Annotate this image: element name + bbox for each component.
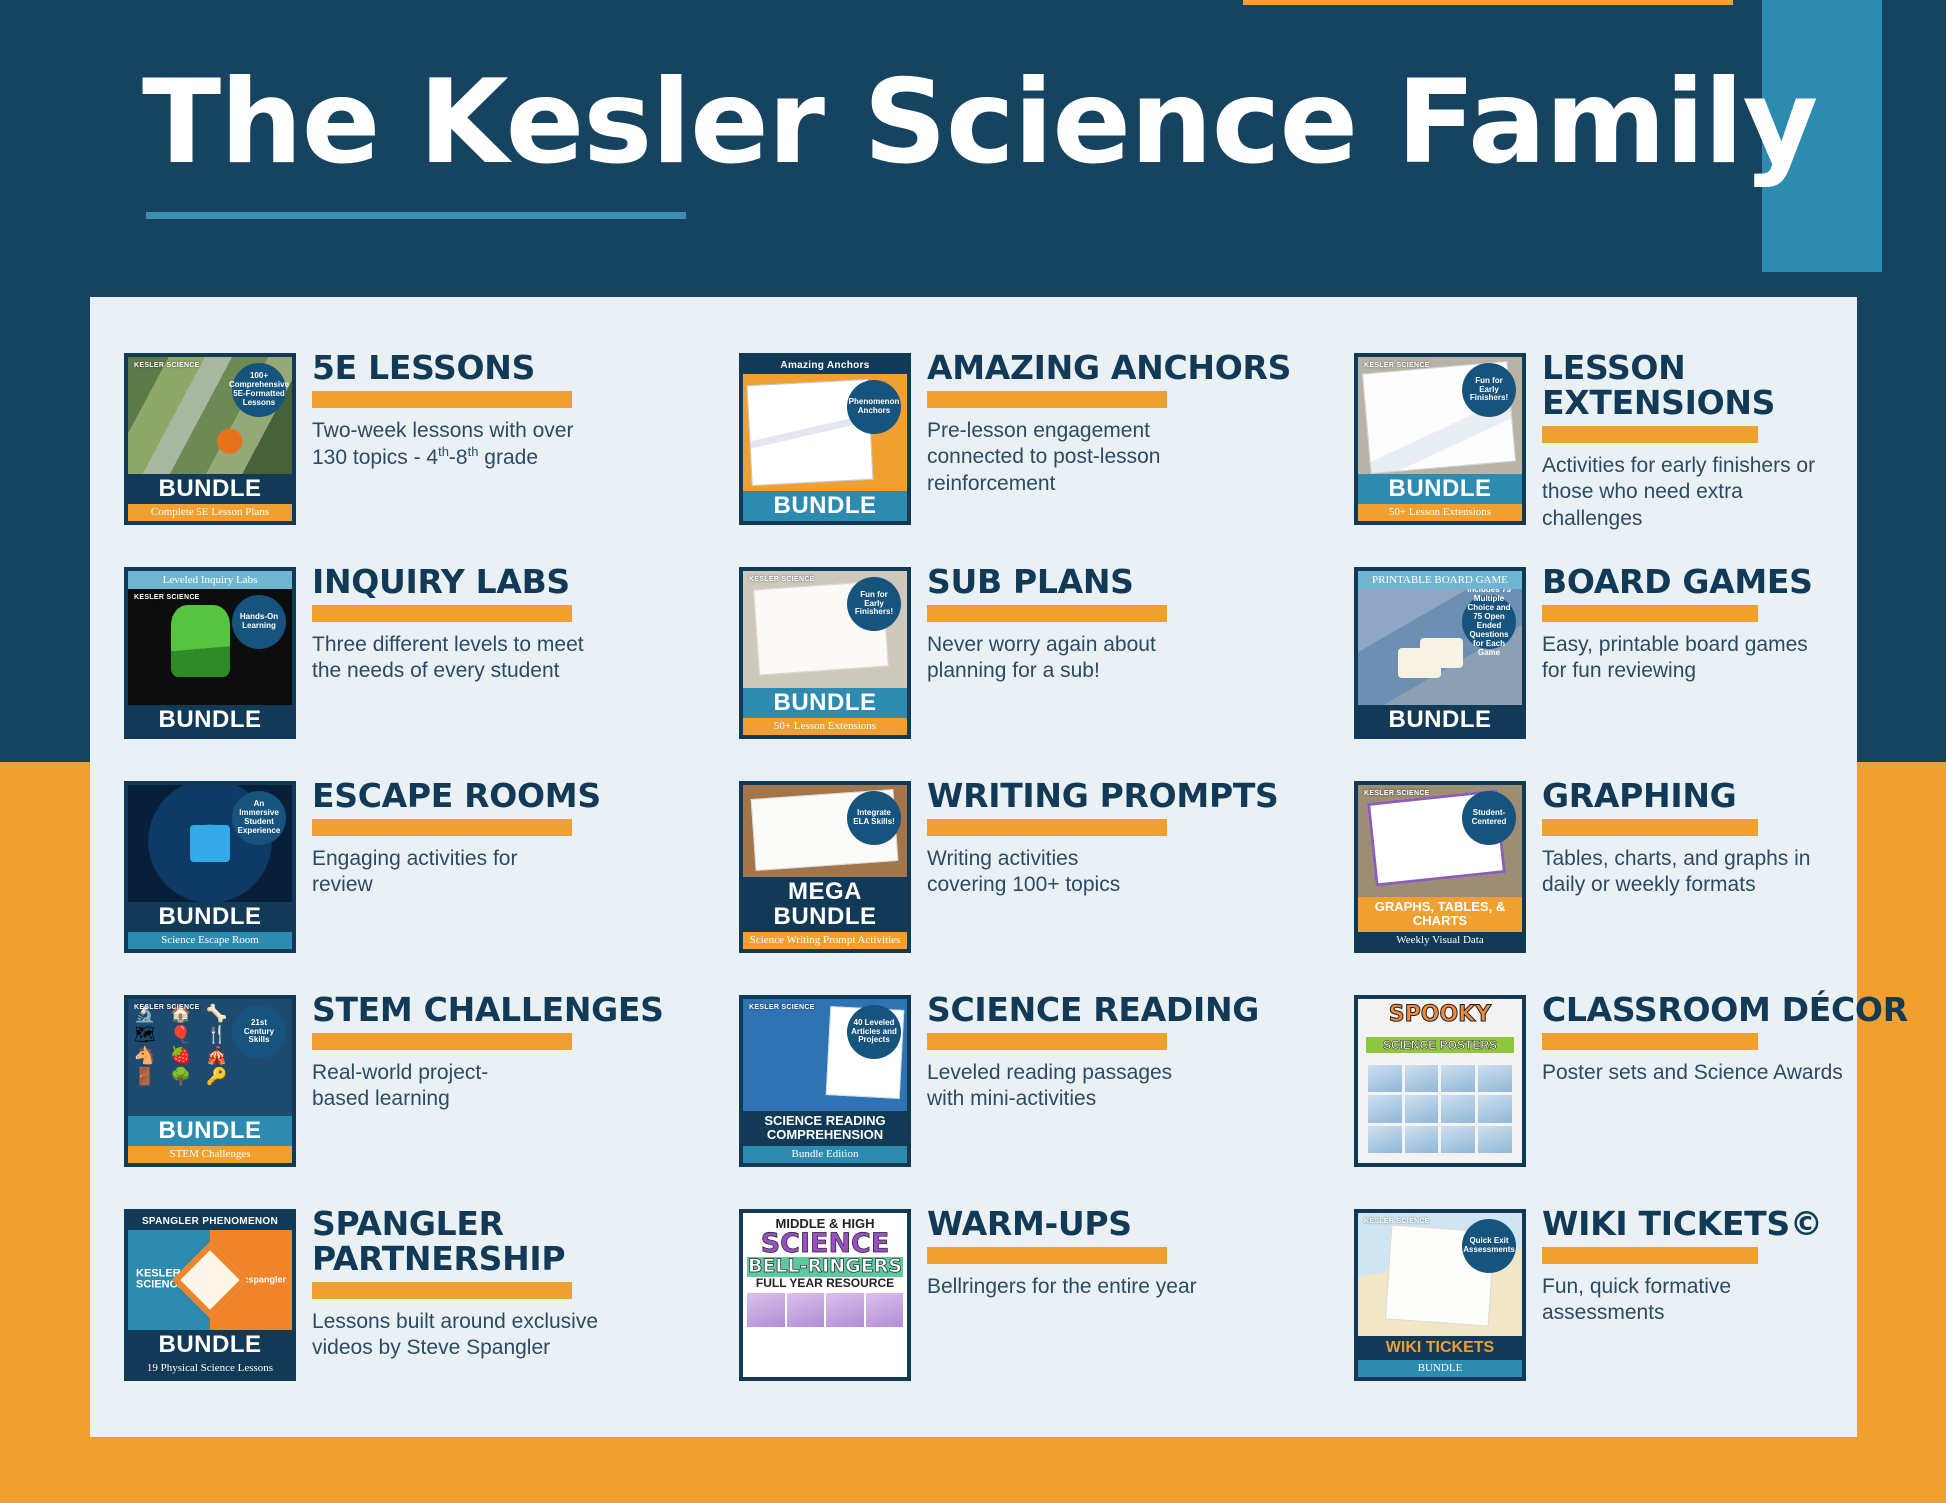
thumbnail-artwork: KESLER SCIENCE21st Century Skills🔬🏠🦴🗺🎈🍴🐴…: [128, 999, 292, 1116]
product-card[interactable]: MIDDLE & HIGHSCIENCEBELL-RINGERSFULL YEA…: [739, 1201, 1354, 1415]
thumbnail-badge: Fun for Early Finishers!: [847, 577, 901, 631]
product-thumbnail[interactable]: KESLER SCIENCE21st Century Skills🔬🏠🦴🗺🎈🍴🐴…: [124, 987, 296, 1167]
product-info: WRITING PROMPTSWriting activitiescoverin…: [911, 773, 1354, 899]
product-title: WIKI TICKETS©: [1542, 1207, 1924, 1242]
thumbnail-frame: SPANGLER PHENOMENONKESLER SCIENCEstevesp…: [124, 1209, 296, 1381]
product-thumbnail[interactable]: KESLER SCIENCE40 Leveled Articles and Pr…: [739, 987, 911, 1167]
thumbnail-frame: Leveled Inquiry LabsKESLER SCIENCEHands-…: [124, 567, 296, 739]
thumbnail-frame: MIDDLE & HIGHSCIENCEBELL-RINGERSFULL YEA…: [739, 1209, 911, 1381]
thumbnail-footer-label: BUNDLE: [128, 902, 292, 932]
product-title-rule: [1542, 605, 1758, 622]
product-card[interactable]: KESLER SCIENCEFun for Early Finishers!BU…: [1354, 345, 1924, 559]
products-grid: KESLER SCIENCE100+ Comprehensive 5E-Form…: [124, 345, 1823, 1415]
thumbnail-badge: 100+ Comprehensive 5E-Formatted Lessons: [232, 363, 286, 417]
thumbnail-badge: Quick Exit Assessments: [1462, 1219, 1516, 1273]
product-title-rule: [312, 605, 572, 622]
warmups-thumb-tiles: [747, 1293, 903, 1327]
product-card[interactable]: Integrate ELA Skills!MEGA BUNDLEScience …: [739, 773, 1354, 987]
kesler-science-logo: KESLER SCIENCE: [749, 1004, 815, 1011]
product-info: BOARD GAMESEasy, printable board gamesfo…: [1526, 559, 1924, 685]
product-card[interactable]: KESLER SCIENCEFun for Early Finishers!BU…: [739, 559, 1354, 773]
product-card[interactable]: Leveled Inquiry LabsKESLER SCIENCEHands-…: [124, 559, 739, 773]
stem-icon: 🐴: [134, 1047, 166, 1064]
product-thumbnail[interactable]: KESLER SCIENCEStudent-CenteredGRAPHS, TA…: [1354, 773, 1526, 953]
product-info: GRAPHINGTables, charts, and graphs indai…: [1526, 773, 1924, 899]
page-title: The Kesler Science Family: [0, 0, 1946, 184]
thumbnail-footer-label: BUNDLE: [128, 705, 292, 735]
poster-title: SPOOKY: [1366, 1004, 1514, 1026]
product-info: ESCAPE ROOMSEngaging activities forrevie…: [296, 773, 739, 899]
page-header: The Kesler Science Family: [0, 0, 1946, 219]
product-title: STEM CHALLENGES: [312, 993, 739, 1028]
product-title: SUB PLANS: [927, 565, 1354, 600]
product-card[interactable]: KESLER SCIENCE40 Leveled Articles and Pr…: [739, 987, 1354, 1201]
product-description: Fun, quick formativeassessments: [1542, 1274, 1872, 1327]
thumbnail-badge: 21st Century Skills: [232, 1005, 286, 1059]
thumbnail-artwork: KESLER SCIENCEstevespangler: [128, 1230, 292, 1330]
thumbnail-footer-label: BUNDLE: [128, 1330, 292, 1360]
thumbnail-artwork: Integrate ELA Skills!: [743, 785, 907, 877]
product-card[interactable]: KESLER SCIENCEStudent-CenteredGRAPHS, TA…: [1354, 773, 1924, 987]
product-thumbnail[interactable]: SPANGLER PHENOMENONKESLER SCIENCEstevesp…: [124, 1201, 296, 1381]
thumbnail-top-banner: PRINTABLE BOARD GAME: [1358, 571, 1522, 589]
thumbnail-frame: An Immersive Student ExperienceBUNDLESci…: [124, 781, 296, 953]
thumbnail-subfooter-label: Bundle Edition: [743, 1146, 907, 1163]
thumbnail-frame: KESLER SCIENCE40 Leveled Articles and Pr…: [739, 995, 911, 1167]
thumbnail-artwork: KESLER SCIENCEFun for Early Finishers!: [743, 571, 907, 688]
product-description: Tables, charts, and graphs indaily or we…: [1542, 846, 1872, 899]
thumbnail-footer-label: BUNDLE: [743, 491, 907, 521]
stem-icon: 🗺: [134, 1026, 166, 1043]
product-info: WIKI TICKETS©Fun, quick formativeassessm…: [1526, 1201, 1924, 1327]
product-title: WARM-UPS: [927, 1207, 1354, 1242]
thumbnail-artwork: KESLER SCIENCE100+ Comprehensive 5E-Form…: [128, 357, 292, 474]
stem-icon: 🎈: [170, 1026, 202, 1043]
thumbnail-badge: 40 Leveled Articles and Projects: [847, 1005, 901, 1059]
product-thumbnail[interactable]: Integrate ELA Skills!MEGA BUNDLEScience …: [739, 773, 911, 953]
product-info: 5E LESSONSTwo-week lessons with over130 …: [296, 345, 739, 472]
product-thumbnail[interactable]: KESLER SCIENCEQuick Exit AssessmentsWIKI…: [1354, 1201, 1526, 1381]
stem-icon: 🦴: [206, 1005, 238, 1022]
product-description: Pre-lesson engagementconnected to post-l…: [927, 418, 1257, 497]
product-title-rule: [312, 1282, 572, 1299]
thumbnail-subfooter-label: STEM Challenges: [128, 1146, 292, 1163]
thumbnail-badge: An Immersive Student Experience: [232, 791, 286, 845]
thumbnail-artwork: KESLER SCIENCEStudent-Centered: [1358, 785, 1522, 897]
stem-icon: 🔑: [206, 1068, 238, 1085]
product-description: Poster sets and Science Awards: [1542, 1060, 1872, 1086]
product-info: WARM-UPSBellringers for the entire year: [911, 1201, 1354, 1300]
product-title-rule: [1542, 1033, 1758, 1050]
thumbnail-frame: Integrate ELA Skills!MEGA BUNDLEScience …: [739, 781, 911, 953]
product-description: Easy, printable board gamesfor fun revie…: [1542, 632, 1872, 685]
stem-icon-grid: 🔬🏠🦴🗺🎈🍴🐴🍓🎪🚪🌳🔑: [134, 1005, 238, 1085]
thumbnail-subfooter-label: Science Escape Room: [128, 932, 292, 949]
thumbnail-frame: PRINTABLE BOARD GAMEIncludes 75 Multiple…: [1354, 567, 1526, 739]
thumbnail-footer-label: BUNDLE: [1358, 705, 1522, 735]
warmups-cover-line: SCIENCE: [747, 1230, 903, 1257]
thumbnail-footer-label: GRAPHS, TABLES, & CHARTS: [1358, 897, 1522, 932]
product-title-rule: [312, 819, 572, 836]
product-card[interactable]: KESLER SCIENCE100+ Comprehensive 5E-Form…: [124, 345, 739, 559]
product-thumbnail[interactable]: MIDDLE & HIGHSCIENCEBELL-RINGERSFULL YEA…: [739, 1201, 911, 1381]
product-description: Leveled reading passageswith mini-activi…: [927, 1060, 1257, 1113]
kesler-science-logo: KESLER SCIENCE: [1364, 362, 1430, 369]
kesler-science-logo: KESLER SCIENCE: [134, 1004, 200, 1011]
thumbnail-badge: Phenomenon Anchors: [847, 380, 901, 434]
kesler-science-logo: KESLER SCIENCE: [134, 362, 200, 369]
thumbnail-top-banner: Leveled Inquiry Labs: [128, 571, 292, 589]
poster-subtitle: SCIENCE POSTERS: [1366, 1037, 1514, 1053]
thumbnail-subfooter-label: Complete 5E Lesson Plans: [128, 504, 292, 521]
thumbnail-artwork: KESLER SCIENCE40 Leveled Articles and Pr…: [743, 999, 907, 1111]
thumbnail-footer-label: BUNDLE: [1358, 474, 1522, 504]
thumbnail-badge: Student-Centered: [1462, 791, 1516, 845]
title-underline-rule: [146, 212, 686, 219]
product-title: SPANGLER PARTNERSHIP: [312, 1207, 739, 1277]
thumbnail-badge: Fun for Early Finishers!: [1462, 363, 1516, 417]
product-title: LESSON EXTENSIONS: [1542, 351, 1924, 421]
product-description: Bellringers for the entire year: [927, 1274, 1257, 1300]
warmups-cover-line: FULL YEAR RESOURCE: [747, 1277, 903, 1290]
kesler-science-logo: KESLER SCIENCE: [134, 594, 200, 601]
warmups-cover-line: BELL-RINGERS: [747, 1257, 903, 1277]
thumbnail-frame: SPOOKYSCIENCE POSTERS: [1354, 995, 1526, 1167]
thumbnail-top-banner: SPANGLER PHENOMENON: [128, 1213, 292, 1230]
product-title: 5E LESSONS: [312, 351, 739, 386]
product-card[interactable]: An Immersive Student ExperienceBUNDLESci…: [124, 773, 739, 987]
product-info: STEM CHALLENGESReal-world project-based …: [296, 987, 739, 1113]
thumbnail-badge: Includes 75 Multiple Choice and 75 Open …: [1462, 595, 1516, 649]
thumbnail-top-banner: Amazing Anchors: [743, 357, 907, 374]
stem-icon: 🎪: [206, 1047, 238, 1064]
product-description: Writing activitiescovering 100+ topics: [927, 846, 1257, 899]
product-card[interactable]: Amazing AnchorsPhenomenon AnchorsBUNDLEA…: [739, 345, 1354, 559]
product-title: CLASSROOM DÉCOR: [1542, 993, 1924, 1028]
thumbnail-frame: KESLER SCIENCE100+ Comprehensive 5E-Form…: [124, 353, 296, 525]
product-info: CLASSROOM DÉCORPoster sets and Science A…: [1526, 987, 1924, 1086]
product-title-rule: [927, 1033, 1167, 1050]
product-description: Engaging activities forreview: [312, 846, 642, 899]
product-title-rule: [1542, 819, 1758, 836]
thumbnail-subfooter-label: 50+ Lesson Extensions: [743, 718, 907, 735]
thumbnail-artwork: KESLER SCIENCEHands-On Learning: [128, 589, 292, 705]
product-card[interactable]: PRINTABLE BOARD GAMEIncludes 75 Multiple…: [1354, 559, 1924, 773]
product-title-rule: [927, 605, 1167, 622]
thumbnail-badge: Hands-On Learning: [232, 595, 286, 649]
thumbnail-footer-label: BUNDLE: [128, 474, 292, 504]
product-info: SCIENCE READINGLeveled reading passagesw…: [911, 987, 1354, 1113]
product-card[interactable]: KESLER SCIENCE21st Century Skills🔬🏠🦴🗺🎈🍴🐴…: [124, 987, 739, 1201]
thumbnail-subfooter-label: 19 Physical Science Lessons: [128, 1360, 292, 1377]
product-title: AMAZING ANCHORS: [927, 351, 1354, 386]
product-card[interactable]: SPOOKYSCIENCE POSTERSCLASSROOM DÉCORPost…: [1354, 987, 1924, 1201]
product-title-rule: [1542, 426, 1758, 443]
thumbnail-footer-label: WIKI TICKETS: [1358, 1336, 1522, 1360]
thumbnail-footer-label: BUNDLE: [128, 1116, 292, 1146]
product-title: GRAPHING: [1542, 779, 1924, 814]
product-thumbnail[interactable]: PRINTABLE BOARD GAMEIncludes 75 Multiple…: [1354, 559, 1526, 739]
product-thumbnail[interactable]: Amazing AnchorsPhenomenon AnchorsBUNDLE: [739, 345, 911, 525]
product-card[interactable]: KESLER SCIENCEQuick Exit AssessmentsWIKI…: [1354, 1201, 1924, 1415]
product-description: Real-world project-based learning: [312, 1060, 642, 1113]
product-title: BOARD GAMES: [1542, 565, 1924, 600]
product-title-rule: [927, 819, 1167, 836]
product-description: Three different levels to meetthe needs …: [312, 632, 642, 685]
thumbnail-frame: KESLER SCIENCEQuick Exit AssessmentsWIKI…: [1354, 1209, 1526, 1381]
thumbnail-subfooter-label: 50+ Lesson Extensions: [1358, 504, 1522, 521]
thumbnail-frame: Amazing AnchorsPhenomenon AnchorsBUNDLE: [739, 353, 911, 525]
product-thumbnail[interactable]: KESLER SCIENCEFun for Early Finishers!BU…: [739, 559, 911, 739]
product-title: SCIENCE READING: [927, 993, 1354, 1028]
thumbnail-artwork: MIDDLE & HIGHSCIENCEBELL-RINGERSFULL YEA…: [743, 1213, 907, 1377]
kesler-science-logo: KESLER SCIENCE: [1364, 790, 1430, 797]
products-panel: KESLER SCIENCE100+ Comprehensive 5E-Form…: [90, 297, 1857, 1437]
thumbnail-subfooter-label: BUNDLE: [1358, 1360, 1522, 1377]
product-title: INQUIRY LABS: [312, 565, 739, 600]
product-title-rule: [1542, 1247, 1758, 1264]
product-title: WRITING PROMPTS: [927, 779, 1354, 814]
thumbnail-frame: KESLER SCIENCEFun for Early Finishers!BU…: [739, 567, 911, 739]
thumbnail-footer-label: BUNDLE: [743, 688, 907, 718]
thumbnail-badge: Integrate ELA Skills!: [847, 791, 901, 845]
thumbnail-artwork: SPOOKYSCIENCE POSTERS: [1358, 999, 1522, 1163]
product-info: SPANGLER PARTNERSHIPLessons built around…: [296, 1201, 739, 1362]
thumbnail-frame: KESLER SCIENCEFun for Early Finishers!BU…: [1354, 353, 1526, 525]
product-info: INQUIRY LABSThree different levels to me…: [296, 559, 739, 685]
thumbnail-footer-label: MEGA BUNDLE: [743, 877, 907, 932]
product-description: Activities for early finishers orthose w…: [1542, 453, 1872, 532]
product-title-rule: [927, 391, 1167, 408]
product-thumbnail[interactable]: KESLER SCIENCE100+ Comprehensive 5E-Form…: [124, 345, 296, 525]
product-title-rule: [927, 1247, 1167, 1264]
product-info: SUB PLANSNever worry again aboutplanning…: [911, 559, 1354, 685]
product-thumbnail[interactable]: SPOOKYSCIENCE POSTERS: [1354, 987, 1526, 1167]
product-info: AMAZING ANCHORSPre-lesson engagementconn…: [911, 345, 1354, 497]
product-description: Never worry again aboutplanning for a su…: [927, 632, 1257, 685]
thumbnail-artwork: Phenomenon Anchors: [743, 374, 907, 491]
product-title-rule: [312, 391, 572, 408]
thumbnail-artwork: KESLER SCIENCEFun for Early Finishers!: [1358, 357, 1522, 474]
thumbnail-footer-label: SCIENCE READING COMPREHENSION: [743, 1111, 907, 1146]
thumbnail-artwork: An Immersive Student Experience: [128, 785, 292, 902]
stem-icon: 🌳: [170, 1068, 202, 1085]
kesler-science-logo: KESLER SCIENCE: [749, 576, 815, 583]
product-thumbnail[interactable]: An Immersive Student ExperienceBUNDLESci…: [124, 773, 296, 953]
stem-icon: 🚪: [134, 1068, 166, 1085]
thumbnail-frame: KESLER SCIENCE21st Century Skills🔬🏠🦴🗺🎈🍴🐴…: [124, 995, 296, 1167]
product-title: ESCAPE ROOMS: [312, 779, 739, 814]
poster-tile-grid: [1368, 1065, 1512, 1154]
product-description: Lessons built around exclusivevideos by …: [312, 1309, 642, 1362]
product-description: Two-week lessons with over130 topics - 4…: [312, 418, 642, 472]
stem-icon: 🍓: [170, 1047, 202, 1064]
kesler-science-logo: KESLER SCIENCE: [1364, 1218, 1430, 1225]
product-title-rule: [312, 1033, 572, 1050]
thumbnail-artwork: Includes 75 Multiple Choice and 75 Open …: [1358, 589, 1522, 705]
thumbnail-artwork: KESLER SCIENCEQuick Exit Assessments: [1358, 1213, 1522, 1336]
product-thumbnail[interactable]: KESLER SCIENCEFun for Early Finishers!BU…: [1354, 345, 1526, 525]
product-card[interactable]: SPANGLER PHENOMENONKESLER SCIENCEstevesp…: [124, 1201, 739, 1415]
thumbnail-subfooter-label: Weekly Visual Data: [1358, 932, 1522, 949]
thumbnail-subfooter-label: Science Writing Prompt Activities: [743, 932, 907, 949]
product-thumbnail[interactable]: Leveled Inquiry LabsKESLER SCIENCEHands-…: [124, 559, 296, 739]
product-info: LESSON EXTENSIONSActivities for early fi…: [1526, 345, 1924, 532]
thumbnail-frame: KESLER SCIENCEStudent-CenteredGRAPHS, TA…: [1354, 781, 1526, 953]
